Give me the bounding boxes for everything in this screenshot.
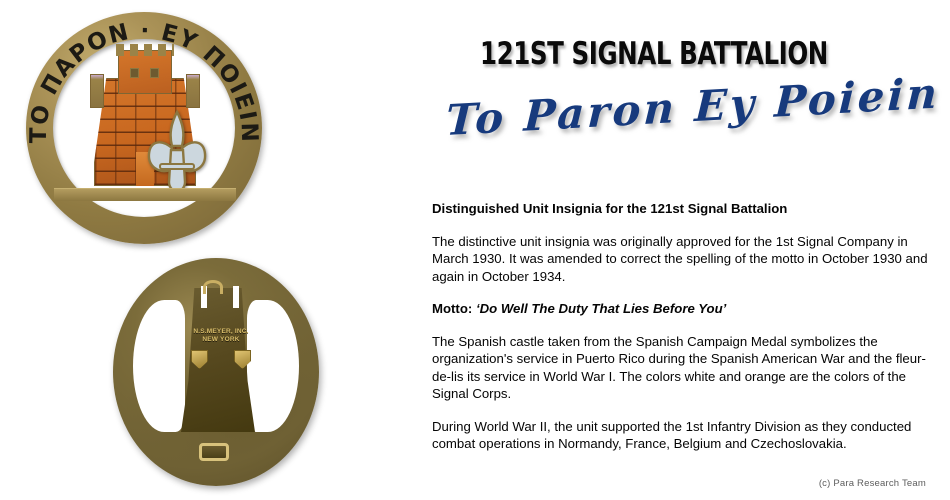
castle-merlons [116,44,174,56]
body-paragraph-1: The distinctive unit insignia was origin… [432,233,932,286]
reverse-clasp [199,443,229,461]
body-paragraph-3: During World War II, the unit supported … [432,418,932,453]
maker-mark-line-1: N.S.MEYER, INC. [179,328,263,336]
castle-window-right [150,68,159,78]
hallmark-group [191,350,251,369]
motto-label: Motto: [432,301,476,316]
hallmark-shield-left [191,350,208,369]
reverse-slot-right [233,286,239,308]
castle-window-left [130,68,139,78]
castle-turret-left [90,74,104,108]
insignia-front-image: ΤΟ ΠΑΡΟΝ · ΕΥ ΠΟΙΕΙΝ [26,12,262,244]
body-paragraph-2: The Spanish castle taken from the Spanis… [432,333,932,403]
reverse-pin-loop [203,280,223,294]
spanish-castle-device [86,42,204,202]
page-title: 121ST SIGNAL BATTALION [480,36,885,72]
motto-quote: ‘Do Well The Duty That Lies Before You’ [476,301,726,316]
article-body: Distinguished Unit Insignia for the 121s… [432,200,932,453]
copyright-notice: (c) Para Research Team [819,478,926,489]
maker-mark: N.S.MEYER, INC. NEW YORK [179,328,263,344]
page-title-text: 121ST SIGNAL BATTALION [480,36,828,72]
body-motto-line: Motto: ‘Do Well The Duty That Lies Befor… [432,300,932,318]
fleur-de-lis-icon [142,108,212,194]
castle-tower [118,50,172,94]
badge-photo-area: ΤΟ ΠΑΡΟΝ · ΕΥ ΠΟΙΕΙΝ [0,0,420,500]
maker-mark-line-2: NEW YORK [179,336,263,344]
insignia-reverse-image: N.S.MEYER, INC. NEW YORK [113,258,319,486]
body-lead: Distinguished Unit Insignia for the 121s… [432,200,932,218]
badge-base-bar [54,188,236,201]
insignia-page: ΤΟ ΠΑΡΟΝ · ΕΥ ΠΟΙΕΙΝ [0,0,950,500]
motto-script-heading: To Paron Ey Poiein [445,68,947,145]
text-column: 121ST SIGNAL BATTALION To Paron Ey Poiei… [420,0,950,500]
castle-turret-right [186,74,200,108]
hallmark-shield-right [234,350,251,369]
